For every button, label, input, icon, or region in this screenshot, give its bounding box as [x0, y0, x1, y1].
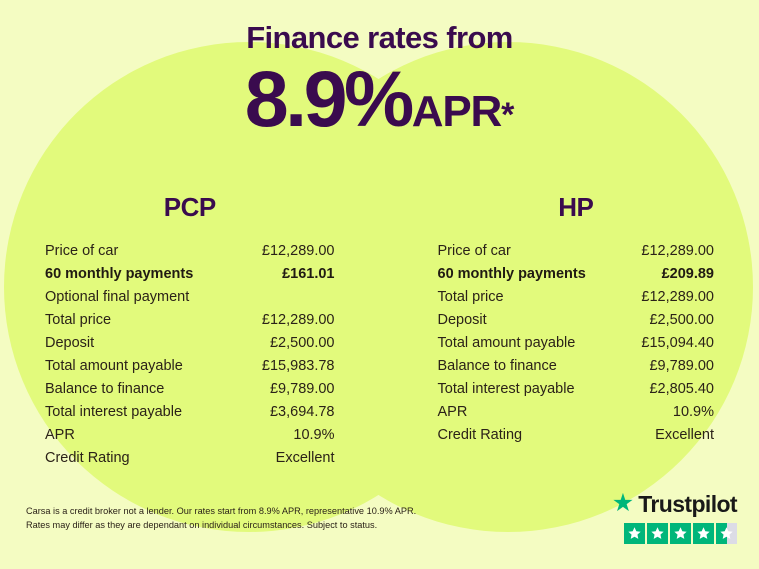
row-value: £2,500.00: [270, 332, 335, 355]
row-label: Balance to finance: [438, 355, 557, 378]
row-value: £2,500.00: [649, 309, 714, 332]
row-label: Price of car: [45, 240, 118, 263]
star-icon-1: [624, 523, 645, 544]
table-row: Balance to finance £9,789.00: [45, 378, 335, 401]
trustpilot-wordmark: ★ Trustpilot: [612, 491, 737, 518]
table-row: Deposit £2,500.00: [438, 309, 715, 332]
row-label: APR: [438, 401, 468, 424]
table-row: Total amount payable £15,983.78: [45, 355, 335, 378]
row-value: 10.9%: [673, 401, 714, 424]
table-row: Total price £12,289.00: [438, 286, 715, 309]
table-row: Optional final payment: [45, 286, 335, 309]
headline-rate: 8.9% APR *: [0, 59, 759, 138]
row-value: £3,694.78: [270, 401, 335, 424]
disclaimer-text: Carsa is a credit broker not a lender. O…: [26, 504, 446, 532]
hero-section: Finance rates from 8.9% APR *: [0, 0, 759, 138]
row-value: 10.9%: [293, 424, 334, 447]
row-value: £9,789.00: [649, 355, 714, 378]
plan-pcp-rows: Price of car £12,289.00 60 monthly payme…: [45, 240, 335, 470]
headline-rate-apr: APR: [412, 90, 501, 134]
star-icon-2: [647, 523, 668, 544]
table-row: Total interest payable £3,694.78: [45, 401, 335, 424]
row-label: Total amount payable: [45, 355, 183, 378]
plan-pcp-title: PCP: [45, 192, 335, 223]
row-label: Total interest payable: [438, 378, 575, 401]
row-label: 60 monthly payments: [45, 263, 193, 286]
disclaimer-line-2: Rates may differ as they are dependant o…: [26, 518, 446, 532]
row-label: Balance to finance: [45, 378, 164, 401]
table-row: APR 10.9%: [438, 401, 715, 424]
row-value: £12,289.00: [262, 240, 335, 263]
row-label: APR: [45, 424, 75, 447]
row-label: Price of car: [438, 240, 511, 263]
trustpilot-name: Trustpilot: [638, 491, 737, 518]
trustpilot-rating-stars: [612, 523, 737, 544]
star-icon-3: [670, 523, 691, 544]
row-value: £12,289.00: [262, 309, 335, 332]
finance-tables: PCP Price of car £12,289.00 60 monthly p…: [0, 192, 759, 470]
row-label: Total price: [438, 286, 504, 309]
row-value: Excellent: [276, 447, 335, 470]
page-title: Finance rates from: [0, 22, 759, 55]
content-layer: Finance rates from 8.9% APR * PCP Price …: [0, 0, 759, 569]
row-label: Total interest payable: [45, 401, 182, 424]
row-value: £9,789.00: [270, 378, 335, 401]
row-value: £15,094.40: [641, 332, 714, 355]
row-label: Credit Rating: [438, 424, 523, 447]
headline-rate-percent: 8.9%: [245, 59, 411, 138]
table-row: Credit Rating Excellent: [438, 424, 715, 447]
table-row: Total price £12,289.00: [45, 309, 335, 332]
row-value: £15,983.78: [262, 355, 335, 378]
row-label: 60 monthly payments: [438, 263, 586, 286]
plan-pcp: PCP Price of car £12,289.00 60 monthly p…: [0, 192, 380, 470]
table-row: Balance to finance £9,789.00: [438, 355, 715, 378]
table-row: Deposit £2,500.00: [45, 332, 335, 355]
row-value: £209.89: [662, 263, 714, 286]
table-row: APR 10.9%: [45, 424, 335, 447]
row-value: £2,805.40: [649, 378, 714, 401]
star-icon-5-half: [716, 523, 737, 544]
row-label: Deposit: [45, 332, 94, 355]
table-row: Total amount payable £15,094.40: [438, 332, 715, 355]
table-row: 60 monthly payments £209.89: [438, 263, 715, 286]
row-value: £12,289.00: [641, 240, 714, 263]
row-label: Credit Rating: [45, 447, 130, 470]
row-label: Total price: [45, 309, 111, 332]
headline-rate-asterisk: *: [501, 98, 514, 132]
row-label: Total amount payable: [438, 332, 576, 355]
star-icon-4: [693, 523, 714, 544]
trustpilot-badge[interactable]: ★ Trustpilot: [612, 491, 737, 544]
footer: Carsa is a credit broker not a lender. O…: [0, 491, 759, 569]
row-value: £12,289.00: [641, 286, 714, 309]
plan-hp: HP Price of car £12,289.00 60 monthly pa…: [380, 192, 759, 470]
row-label: Deposit: [438, 309, 487, 332]
plan-hp-rows: Price of car £12,289.00 60 monthly payme…: [438, 240, 715, 447]
disclaimer-line-1: Carsa is a credit broker not a lender. O…: [26, 504, 446, 518]
trustpilot-star-icon: ★: [612, 491, 634, 516]
finance-rates-graphic: Finance rates from 8.9% APR * PCP Price …: [0, 0, 759, 569]
table-row: Total interest payable £2,805.40: [438, 378, 715, 401]
table-row: Price of car £12,289.00: [438, 240, 715, 263]
plan-hp-title: HP: [438, 192, 715, 223]
row-value: Excellent: [655, 424, 714, 447]
row-value: £161.01: [282, 263, 334, 286]
table-row: Credit Rating Excellent: [45, 447, 335, 470]
table-row: Price of car £12,289.00: [45, 240, 335, 263]
row-label: Optional final payment: [45, 286, 189, 309]
table-row: 60 monthly payments £161.01: [45, 263, 335, 286]
